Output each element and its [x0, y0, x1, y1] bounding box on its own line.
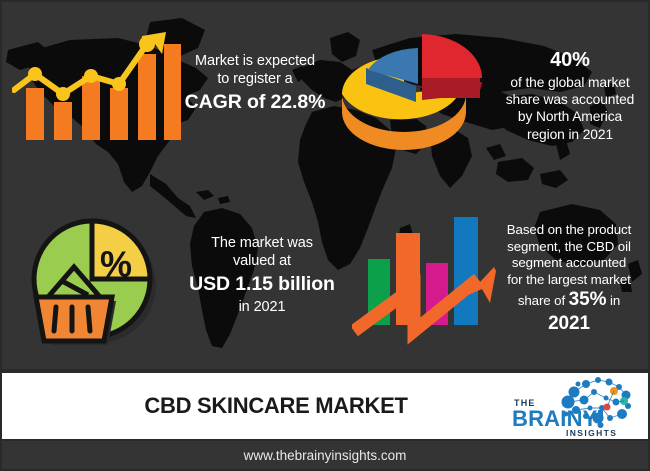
callout-share-line2: share was accounted — [506, 92, 634, 107]
callout-value-highlight: USD 1.15 billion — [182, 272, 342, 296]
brainy-insights-logo[interactable]: THE BRAINY INSIGHTS — [510, 374, 642, 438]
product-segment-bar-chart — [352, 205, 502, 351]
callout-product-segment: Based on the product segment, the CBD oi… — [490, 222, 648, 336]
callout-cagr-highlight: CAGR of 22.8% — [176, 90, 334, 114]
callout-share-line3: by North America — [518, 109, 622, 124]
callout-segment-line5-post: in — [606, 293, 620, 308]
callout-share-highlight: 40% — [492, 48, 648, 73]
growth-bar-line-chart — [12, 22, 182, 144]
page-title: CBD SKINCARE MARKET — [2, 393, 510, 419]
callout-market-value: The market was valued at USD 1.15 billio… — [182, 234, 342, 316]
callout-share-line1: of the global market — [510, 75, 629, 90]
callout-segment-line3: segment accounted — [512, 255, 626, 270]
bar-series — [26, 44, 181, 140]
infographic-root: % — [0, 0, 650, 471]
callout-segment-line6: 2021 — [548, 313, 590, 334]
bar-blue — [454, 217, 478, 325]
callout-segment-line5-pre: share of — [518, 293, 569, 308]
percent-symbol: % — [100, 244, 132, 285]
regional-share-pie-chart — [338, 20, 484, 154]
callout-segment-line2: segment, the CBD oil — [507, 239, 631, 254]
callout-value-line1: The market was — [211, 235, 313, 251]
infographic-stage: % — [0, 0, 650, 371]
market-value-pie-chart: % — [18, 205, 170, 353]
footer-title-bar: CBD SKINCARE MARKET — [0, 371, 650, 441]
pie-slice-red — [422, 34, 482, 78]
callout-value-line3: in 2021 — [239, 299, 286, 315]
pie-slice-red-side — [422, 76, 480, 98]
logo-insights: INSIGHTS — [566, 428, 617, 438]
callout-value-line2: valued at — [233, 253, 291, 269]
callout-share-line4: region in 2021 — [527, 127, 613, 142]
footer-url[interactable]: www.thebrainyinsights.com — [0, 441, 650, 471]
callout-segment-line4: for the largest market — [507, 272, 630, 287]
callout-segment-highlight: 35% — [569, 289, 607, 310]
callout-cagr-line1: Market is expected — [195, 53, 315, 69]
callout-cagr-line2: to register a — [217, 71, 292, 87]
callout-segment-line1: Based on the product — [507, 222, 631, 237]
callout-regional-share: 40% of the global market share was accou… — [492, 48, 648, 143]
callout-cagr: Market is expected to register a CAGR of… — [176, 52, 334, 115]
